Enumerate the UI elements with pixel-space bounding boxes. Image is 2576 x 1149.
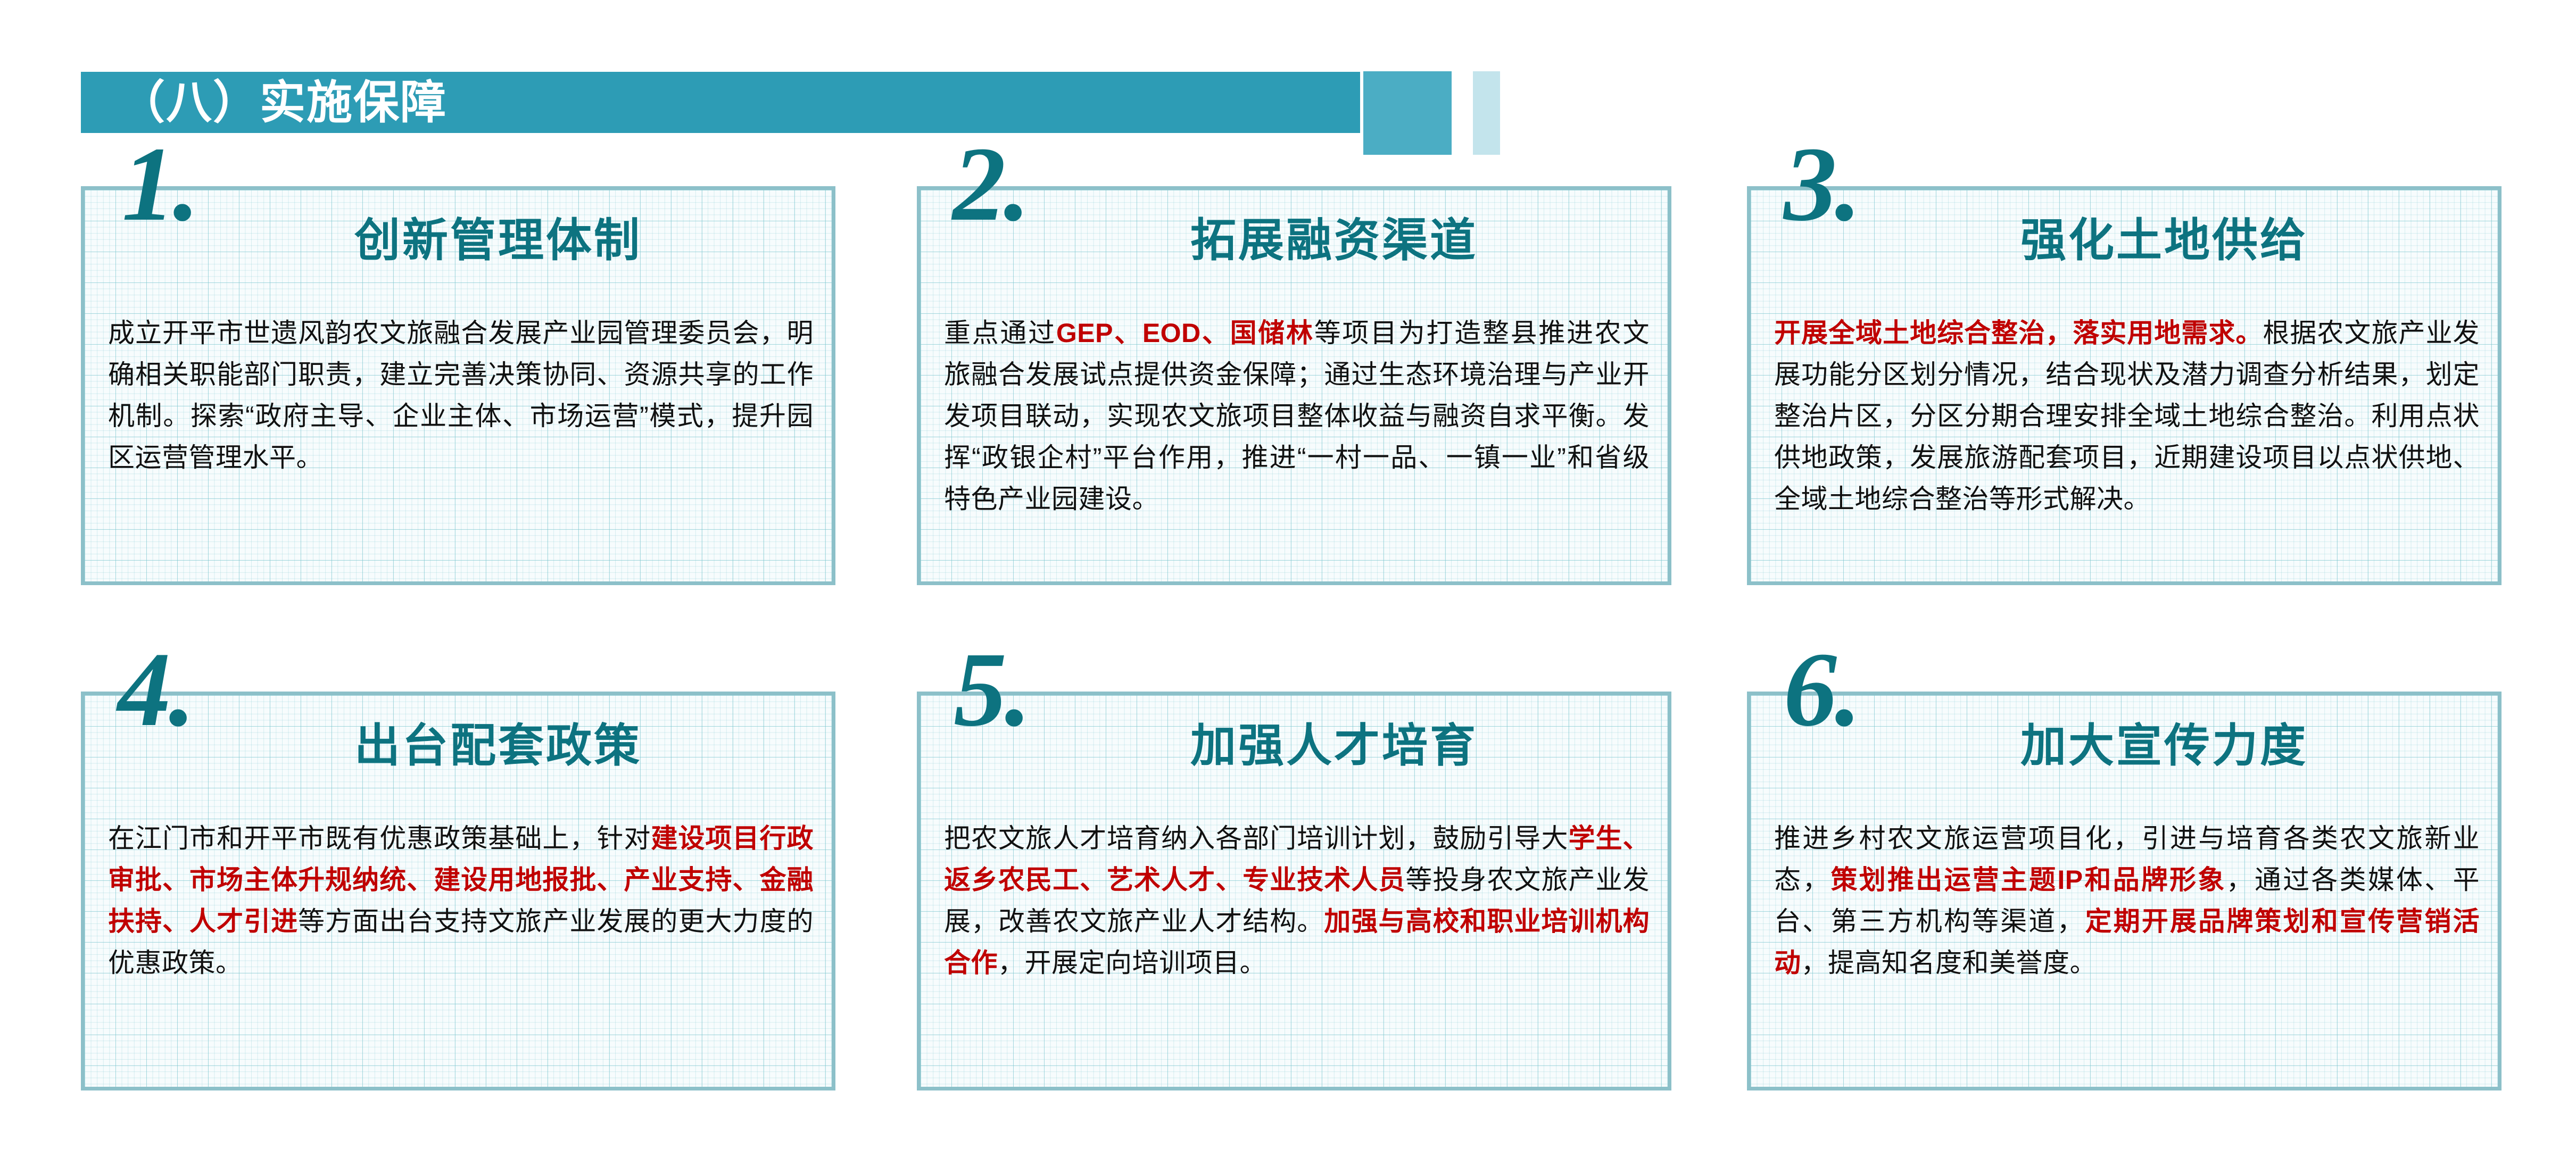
measure-number-6: 6. — [1784, 637, 1859, 743]
measure-body-3: 开展全域土地综合整治，落实用地需求。根据农文旅产业发展功能分区划分情况，结合现状… — [1774, 312, 2480, 520]
slide-root: （八）实施保障 1. 创新管理体制 成立开平市世遗风韵农文旅融合发展产业园管理委… — [0, 0, 2576, 1149]
measure-title-2: 拓展融资渠道 — [921, 215, 1668, 266]
measure-card-6: 6. 加大宣传力度 推进乡村农文旅运营项目化，引进与培育各类农文旅新业态，策划推… — [1747, 692, 2502, 1090]
measure-body-4: 在江门市和开平市既有优惠政策基础上，针对建设项目行政审批、市场主体升规纳统、建设… — [108, 818, 814, 984]
measure-card-5: 5. 加强人才培育 把农文旅人才培育纳入各部门培训计划，鼓励引导大学生、返乡农民… — [917, 692, 1671, 1090]
measure-title-4: 出台配套政策 — [85, 721, 832, 771]
measure-title-3: 强化土地供给 — [1751, 215, 2498, 266]
body-text: 重点通过 — [944, 318, 1056, 348]
measure-card-4: 4. 出台配套政策 在江门市和开平市既有优惠政策基础上，针对建设项目行政审批、市… — [81, 692, 835, 1090]
measure-title-6: 加大宣传力度 — [1751, 721, 2498, 771]
highlighted-text: 开展全域土地综合整治，落实用地需求。 — [1774, 318, 2263, 348]
body-text: ，开展定向培训项目。 — [998, 948, 1266, 978]
measure-number-5: 5. — [954, 637, 1029, 743]
measure-number-4: 4. — [118, 637, 193, 743]
measure-number-1: 1. — [122, 131, 197, 238]
measures-card-grid: 1. 创新管理体制 成立开平市世遗风韵农文旅融合发展产业园管理委员会，明确相关职… — [0, 0, 2576, 1149]
measure-card-1: 1. 创新管理体制 成立开平市世遗风韵农文旅融合发展产业园管理委员会，明确相关职… — [81, 186, 835, 585]
body-text: 在江门市和开平市既有优惠政策基础上，针对 — [108, 823, 651, 853]
measure-card-2: 2. 拓展融资渠道 重点通过GEP、EOD、国储林等项目为打造整县推进农文旅融合… — [917, 186, 1671, 585]
body-text: ，提高知名度和美誉度。 — [1801, 948, 2097, 978]
measure-body-1: 成立开平市世遗风韵农文旅融合发展产业园管理委员会，明确相关职能部门职责，建立完善… — [108, 312, 814, 478]
highlighted-text: 策划推出运营主题IP和品牌形象 — [1830, 865, 2226, 895]
body-text: 把农文旅人才培育纳入各部门培训计划，鼓励引导大 — [944, 823, 1568, 853]
measure-body-6: 推进乡村农文旅运营项目化，引进与培育各类农文旅新业态，策划推出运营主题IP和品牌… — [1774, 818, 2480, 984]
measure-title-5: 加强人才培育 — [921, 721, 1668, 771]
measure-body-5: 把农文旅人才培育纳入各部门培训计划，鼓励引导大学生、返乡农民工、艺术人才、专业技… — [944, 818, 1650, 984]
measure-number-3: 3. — [1784, 131, 1859, 238]
highlighted-text: GEP、EOD、国储林 — [1056, 318, 1314, 348]
measure-number-2: 2. — [952, 131, 1028, 238]
measure-body-2: 重点通过GEP、EOD、国储林等项目为打造整县推进农文旅融合发展试点提供资金保障… — [944, 312, 1650, 520]
measure-card-3: 3. 强化土地供给 开展全域土地综合整治，落实用地需求。根据农文旅产业发展功能分… — [1747, 186, 2502, 585]
body-text: 成立开平市世遗风韵农文旅融合发展产业园管理委员会，明确相关职能部门职责，建立完善… — [108, 318, 814, 472]
